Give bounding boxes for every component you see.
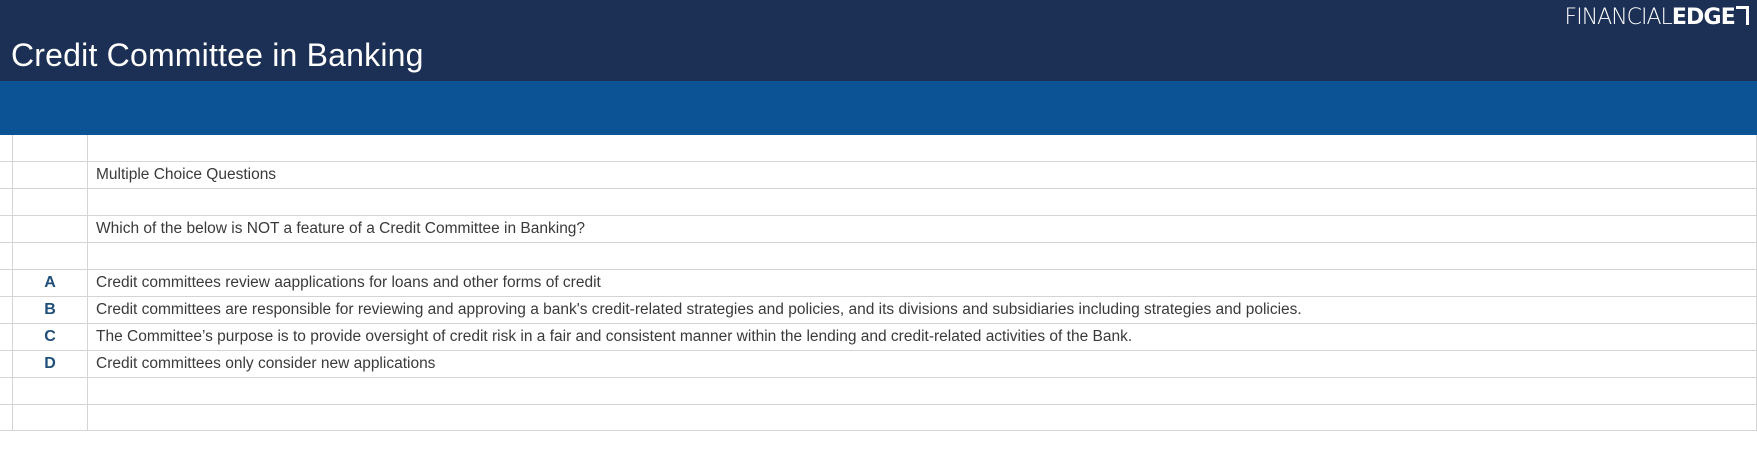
slide-root: Credit Committee in Banking FINANCIALEDG… — [0, 0, 1757, 453]
option-letter-cell — [13, 216, 88, 242]
row-content-cell — [88, 243, 1757, 269]
option-text-c: The Committee’s purpose is to provide ov… — [88, 324, 1757, 350]
table-row — [0, 405, 1757, 431]
option-letter-cell — [13, 378, 88, 404]
subheader-band — [0, 81, 1757, 135]
row-content-cell — [88, 135, 1757, 161]
header-band: Credit Committee in Banking FINANCIALEDG… — [0, 0, 1757, 81]
answer-option-row-c[interactable]: C The Committee’s purpose is to provide … — [0, 324, 1757, 351]
option-letter-b: B — [13, 297, 88, 323]
option-letter-cell — [13, 162, 88, 188]
option-text-b: Credit committees are responsible for re… — [88, 297, 1757, 323]
option-letter-cell — [13, 405, 88, 430]
logo-corner-bracket-icon — [1736, 6, 1749, 28]
row-gutter-cell — [0, 135, 13, 161]
row-gutter-cell — [0, 243, 13, 269]
page-title: Credit Committee in Banking — [11, 36, 424, 74]
row-gutter-cell — [0, 405, 13, 430]
row-gutter-cell — [0, 378, 13, 404]
table-row — [0, 135, 1757, 162]
row-gutter-cell — [0, 324, 13, 350]
option-letter-c: C — [13, 324, 88, 350]
answer-option-row-b[interactable]: B Credit committees are responsible for … — [0, 297, 1757, 324]
table-row — [0, 189, 1757, 216]
option-letter-cell — [13, 135, 88, 161]
table-row: Multiple Choice Questions — [0, 162, 1757, 189]
spreadsheet-grid: Multiple Choice Questions Which of the b… — [0, 135, 1757, 453]
table-row: Which of the below is NOT a feature of a… — [0, 216, 1757, 243]
option-letter-d: D — [13, 351, 88, 377]
financialedge-logo: FINANCIALEDGE — [1565, 5, 1749, 31]
row-content-cell — [88, 378, 1757, 404]
row-gutter-cell — [0, 216, 13, 242]
table-row — [0, 243, 1757, 270]
logo-bold-text: EDGE — [1672, 5, 1735, 31]
row-content-cell — [88, 405, 1757, 430]
row-gutter-cell — [0, 297, 13, 323]
table-row — [0, 378, 1757, 405]
option-letter-cell — [13, 243, 88, 269]
question-text-cell: Which of the below is NOT a feature of a… — [88, 216, 1757, 242]
option-text-d: Credit committees only consider new appl… — [88, 351, 1757, 377]
option-letter-a: A — [13, 270, 88, 296]
row-gutter-cell — [0, 162, 13, 188]
answer-option-row-d[interactable]: D Credit committees only consider new ap… — [0, 351, 1757, 378]
option-text-a: Credit committees review aapplications f… — [88, 270, 1757, 296]
section-heading-cell: Multiple Choice Questions — [88, 162, 1757, 188]
row-gutter-cell — [0, 351, 13, 377]
logo-light-text: FINANCIAL — [1565, 5, 1672, 31]
row-gutter-cell — [0, 270, 13, 296]
answer-option-row-a[interactable]: A Credit committees review aapplications… — [0, 270, 1757, 297]
option-letter-cell — [13, 189, 88, 215]
row-content-cell — [88, 189, 1757, 215]
row-gutter-cell — [0, 189, 13, 215]
